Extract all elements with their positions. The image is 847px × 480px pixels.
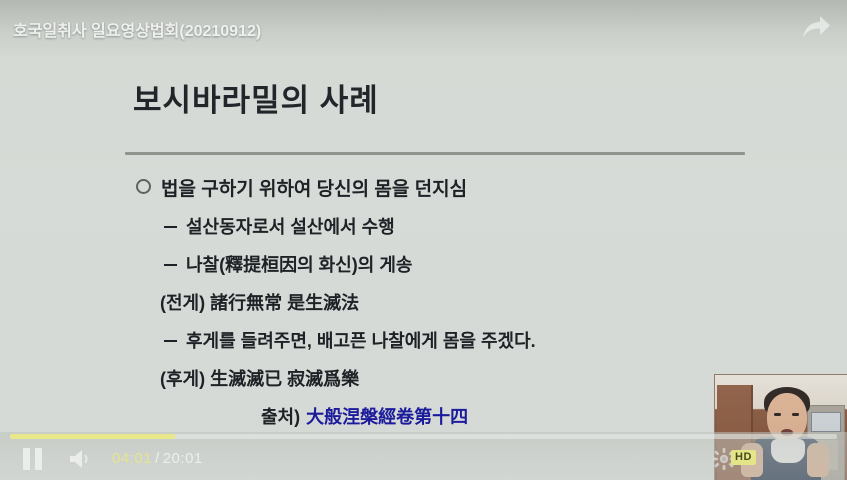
slide-line-text: 법을 구하기 위하여 당신의 몸을 던지심 bbox=[161, 174, 467, 201]
dash-bullet-icon bbox=[164, 264, 177, 266]
volume-button[interactable] bbox=[68, 448, 98, 470]
progress-bar-fill bbox=[10, 434, 175, 439]
video-title: 호국일취사 일요영상법회(20210912) bbox=[13, 17, 261, 41]
slide-heading: 보시바라밀의 사례 bbox=[133, 75, 379, 120]
pause-button[interactable] bbox=[22, 448, 44, 470]
slide-line-text: 나찰(釋提桓因의 화신)의 게송 bbox=[186, 251, 412, 277]
hd-quality-badge[interactable]: HD bbox=[731, 450, 756, 465]
slide-line-text: (후게) 生滅滅已 寂滅爲樂 bbox=[160, 365, 359, 391]
dash-bullet-icon bbox=[164, 340, 177, 342]
source-value: 大般涅槃經卷第十四 bbox=[306, 403, 468, 429]
slide-line: 나찰(釋提桓因의 화신)의 게송 bbox=[136, 251, 796, 277]
slide-source-line: 출처) 大般涅槃經卷第十四 bbox=[136, 403, 796, 429]
slide-body: 법을 구하기 위하여 당신의 몸을 던지심 설산동자로서 설산에서 수행 나찰(… bbox=[136, 174, 796, 439]
slide-line: 후게를 들려주면, 배고픈 나찰에게 몸을 주겠다. bbox=[136, 327, 796, 353]
progress-bar[interactable] bbox=[10, 434, 837, 439]
slide-divider bbox=[125, 152, 745, 155]
total-time: 20:01 bbox=[163, 450, 203, 467]
source-label: 출처) bbox=[261, 403, 300, 429]
video-player: 보시바라밀의 사례 법을 구하기 위하여 당신의 몸을 던지심 설산동자로서 설… bbox=[0, 0, 847, 480]
time-separator: / bbox=[155, 450, 160, 467]
circle-bullet-icon bbox=[136, 179, 151, 194]
slide-line-text: 후게를 들려주면, 배고픈 나찰에게 몸을 주겠다. bbox=[186, 327, 536, 353]
share-icon[interactable] bbox=[799, 13, 833, 43]
slide-line-text: (전게) 諸行無常 是生滅法 bbox=[160, 289, 359, 315]
time-display: 04:01/20:01 bbox=[112, 450, 203, 467]
slide-line: 법을 구하기 위하여 당신의 몸을 던지심 bbox=[136, 174, 796, 201]
slide-line-text: 설산동자로서 설산에서 수행 bbox=[186, 213, 395, 239]
slide-line: (전게) 諸行無常 是生滅法 bbox=[136, 289, 796, 315]
slide-line: (후게) 生滅滅已 寂滅爲樂 bbox=[136, 365, 796, 391]
dash-bullet-icon bbox=[164, 226, 177, 228]
current-time: 04:01 bbox=[112, 450, 152, 467]
slide-line: 설산동자로서 설산에서 수행 bbox=[136, 213, 796, 239]
